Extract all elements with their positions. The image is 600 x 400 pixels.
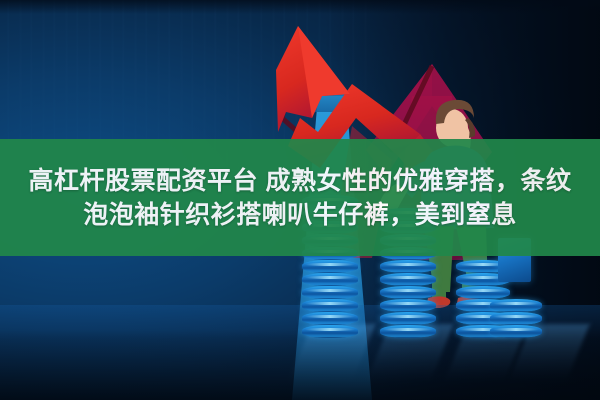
- headline-line-2: 泡泡袖针织衫搭喇叭牛仔裤，美到窒息: [83, 199, 517, 231]
- headline-line-1: 高杠杆股票配资平台 成熟女性的优雅穿搭，条纹: [29, 165, 572, 197]
- background-bottom-fade: [0, 330, 600, 400]
- headline-banner: 高杠杆股票配资平台 成熟女性的优雅穿搭，条纹 泡泡袖针织衫搭喇叭牛仔裤，美到窒息: [0, 139, 600, 256]
- banner-image: 高杠杆股票配资平台 成熟女性的优雅穿搭，条纹 泡泡袖针织衫搭喇叭牛仔裤，美到窒息: [0, 0, 600, 400]
